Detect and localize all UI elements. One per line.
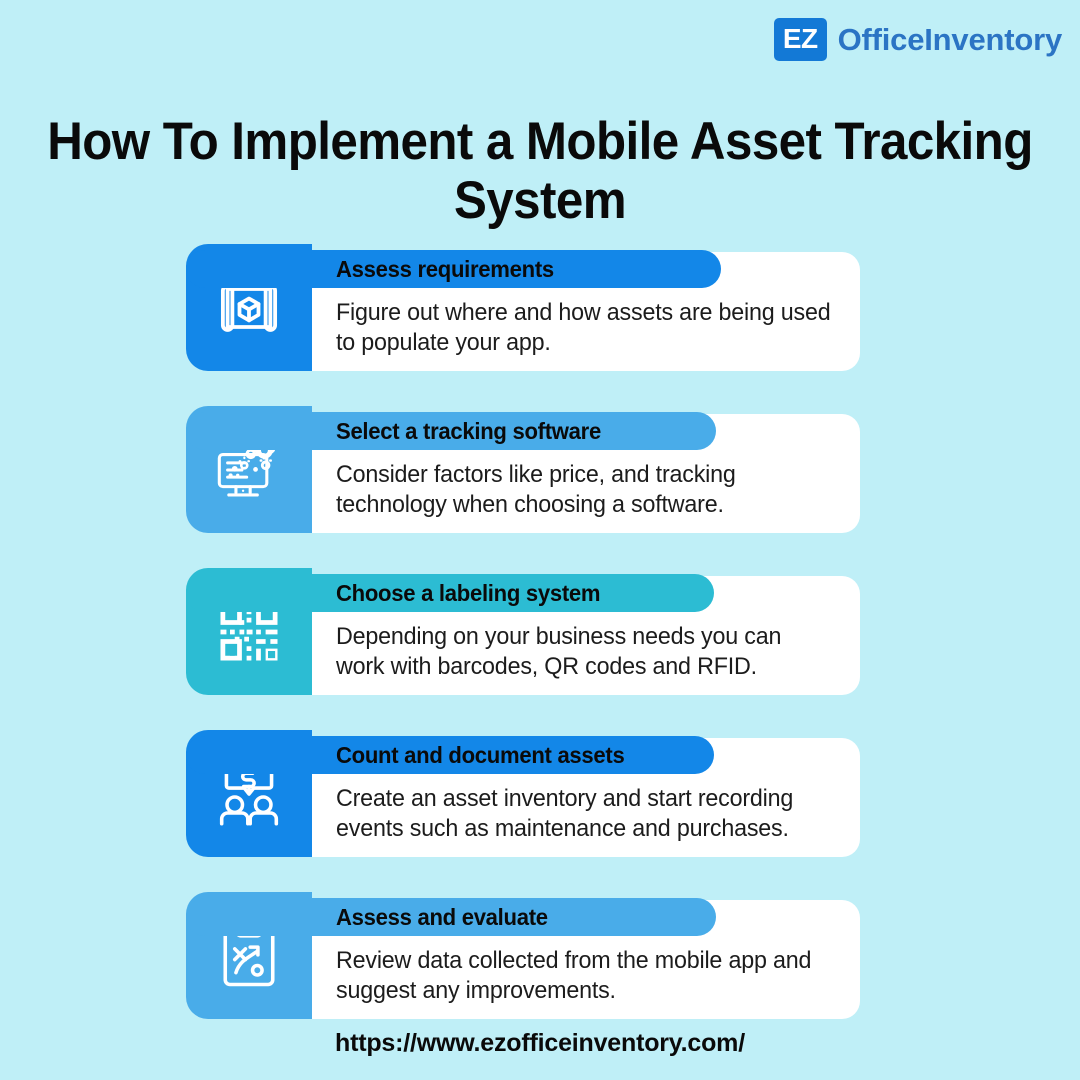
steps-list: Assess requirements Figure out where and… [0,244,1080,1019]
title-pill-1: Assess requirements [186,250,721,288]
step-title-5: Assess and evaluate [336,904,548,931]
brand-name: OfficeInventory [838,24,1062,55]
step-title-1: Assess requirements [336,256,554,283]
step-card-1: Assess requirements Figure out where and… [0,244,1080,371]
step-description-5: Review data collected from the mobile ap… [336,946,831,1006]
step-title-2: Select a tracking software [336,418,601,445]
step-card-5: Assess and evaluate Review data collecte… [0,892,1080,1019]
step-card-2: Select a tracking software Consider fact… [0,406,1080,533]
title-pill-2: Select a tracking software [186,412,716,450]
title-pill-5: Assess and evaluate [186,898,716,936]
title-pill-4: Count and document assets [186,736,714,774]
step-description-4: Create an asset inventory and start reco… [336,784,831,844]
step-description-2: Consider factors like price, and trackin… [336,460,831,520]
page-title: How To Implement a Mobile Asset Tracking… [38,112,1042,231]
brand-logo: EZ OfficeInventory [774,18,1062,61]
step-card-3: Choose a labeling system Depending on yo… [0,568,1080,695]
step-title-3: Choose a labeling system [336,580,600,607]
footer-url[interactable]: https://www.ezofficeinventory.com/ [0,1029,1080,1058]
step-description-1: Figure out where and how assets are bein… [336,298,831,358]
step-title-4: Count and document assets [336,742,624,769]
step-description-3: Depending on your business needs you can… [336,622,831,682]
title-pill-3: Choose a labeling system [186,574,714,612]
ez-logo-mark: EZ [774,18,827,61]
step-card-4: Count and document assets Create an asse… [0,730,1080,857]
